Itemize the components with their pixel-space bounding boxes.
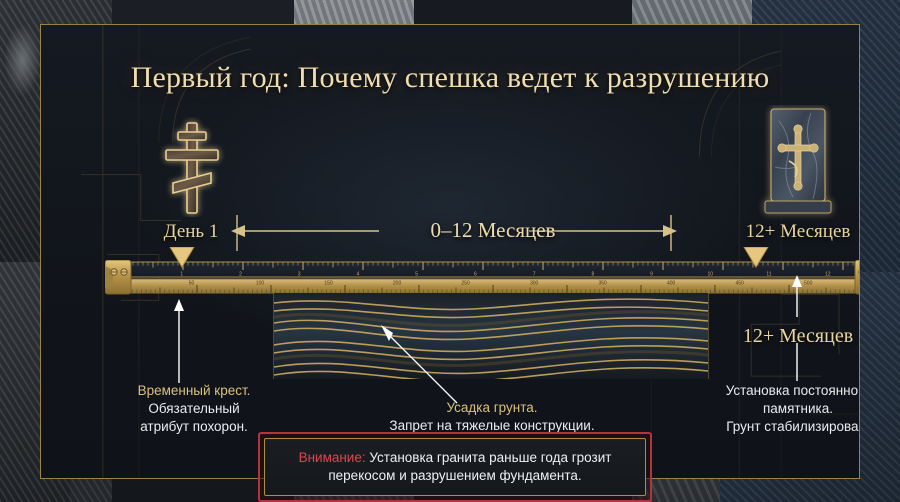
svg-text:4: 4 [357,272,360,278]
warning-keyword: Внимание: [299,450,366,465]
ruler-marker-start [167,247,197,269]
callout-pointer-middle [377,321,463,407]
svg-text:7: 7 [533,272,536,278]
svg-text:350: 350 [598,281,607,287]
svg-text:10: 10 [708,272,714,278]
callout-right-line3: Грунт стабилизирован. [691,418,860,436]
ruler-hinge-left [105,260,131,294]
infographic-canvas: Первый год: Почему спешка ведет к разруш… [0,0,900,502]
callout-middle: Усадка грунта. Запрет на тяжелые констру… [347,399,637,435]
callout-pointer-left [159,297,199,385]
warning-text: Внимание: Установка гранита раньше года … [299,449,612,485]
callout-left-line1: Обязательный [99,400,289,418]
svg-text:300: 300 [530,281,539,287]
callout-right: Установка постоянного памятника. Грунт с… [691,382,860,435]
svg-text:8: 8 [591,272,594,278]
svg-text:50: 50 [189,281,195,287]
svg-text:11: 11 [766,272,771,278]
ruler-hinge-right [855,260,860,294]
soil-settlement-strata [273,293,709,379]
svg-text:450: 450 [735,281,744,287]
svg-text:12: 12 [825,272,831,278]
svg-text:200: 200 [393,281,402,287]
timeline-end-label-top: 12+ Месяцев [717,221,860,243]
svg-text:400: 400 [667,281,676,287]
duration-span-label: 0–12 Месяцев [381,218,605,243]
warning-line2: перекосом и разрушением фундамента. [328,468,581,483]
callout-left-highlight: Временный крест. [99,382,289,400]
svg-text:100: 100 [256,281,265,287]
svg-text:5: 5 [415,272,418,278]
svg-text:2: 2 [239,272,242,278]
ruler-marker-end [741,247,771,269]
warning-line1: Установка гранита раньше года грозит [366,450,612,465]
warning-banner-inner: Внимание: Установка гранита раньше года … [264,438,646,496]
warning-banner: Внимание: Установка гранита раньше года … [258,432,652,502]
main-panel: Первый год: Почему спешка ведет к разруш… [40,24,860,479]
svg-text:3: 3 [298,272,301,278]
callout-right-line2: памятника. [691,400,860,418]
svg-text:1: 1 [180,272,183,278]
callout-left: Временный крест. Обязательный атрибут по… [99,382,289,435]
callout-right-line1: Установка постоянного [691,382,860,400]
callout-middle-highlight: Усадка грунта. [347,399,637,417]
granite-monument-icon [753,105,843,223]
page-title: Первый год: Почему спешка ведет к разруш… [41,61,859,95]
svg-text:6: 6 [474,272,477,278]
svg-text:150: 150 [324,281,333,287]
svg-text:9: 9 [650,272,653,278]
svg-text:250: 250 [461,281,470,287]
callout-pointer-right [777,273,817,385]
orthodox-cross-icon [149,117,235,217]
